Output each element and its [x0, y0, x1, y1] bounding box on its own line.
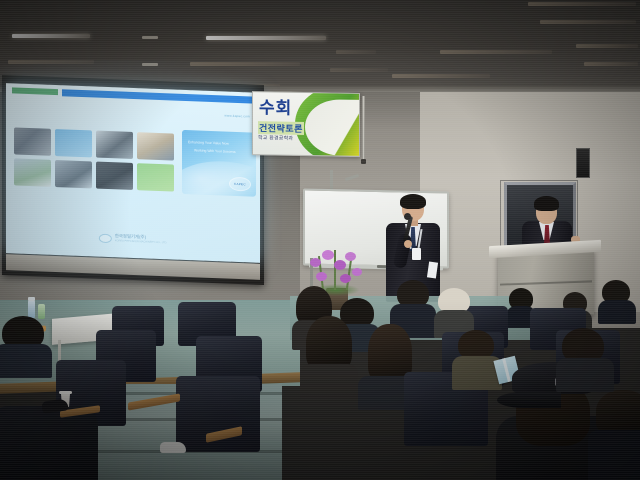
water-bottle-cap: [28, 297, 35, 301]
paper-cup-lip: [59, 391, 72, 394]
orchid-bloom: [310, 258, 321, 267]
slide-tagline-2: Working With Your Success: [194, 148, 252, 155]
orchid-stem-2: [334, 250, 336, 290]
event-banner: 수회 건전략토론 학교 환경공학과: [252, 91, 360, 157]
banner-title: 수회: [259, 99, 292, 118]
presenter-name-badge: [412, 248, 421, 260]
presenter-hair: [400, 194, 426, 209]
orchid-bloom: [322, 250, 334, 260]
slide-brand-badge: KAPEC: [229, 177, 251, 192]
audience-member: [556, 328, 612, 386]
slide-accent-bar-blue: [62, 89, 254, 103]
wall-speaker-icon: [576, 148, 590, 178]
banner-pole-cap: [361, 159, 366, 164]
projection-screen: www.kapec.com Enhancing Your Value N: [2, 79, 264, 285]
presenter-hand: [404, 240, 412, 248]
seat[interactable]: [176, 376, 260, 452]
slide-thumb-green-swatch: [137, 163, 174, 191]
slide-accent-bar-green: [12, 87, 58, 95]
slide-tagline-1: Enhancing Your Value Now: [188, 140, 252, 147]
orchid-bloom: [345, 252, 356, 261]
audience-member: [596, 390, 640, 480]
banner-subtitle: 건전략토론: [258, 121, 304, 135]
slide-thumb-vehicle: [55, 160, 92, 188]
slide-thumb-wheel: [14, 158, 51, 186]
slide-logo-romanized: KOREA PRECISION MACHINERY CO., LTD.: [115, 238, 167, 245]
microphone-head-icon: [404, 213, 411, 220]
audience-member-reading: [452, 330, 500, 386]
sneaker: [160, 442, 186, 453]
slide-url-text: www.kapec.com: [224, 114, 250, 119]
orchid-bloom: [316, 272, 327, 281]
slide-thumb-machinery: [14, 127, 51, 155]
presentation-slide: www.kapec.com Enhancing Your Value N: [6, 83, 260, 263]
banner-small-line: 학교 환경공학과: [258, 134, 293, 142]
slide-thumb-drill: [96, 131, 133, 159]
slide-thumb-blue-swatch: [55, 129, 92, 157]
audience-member: [600, 280, 634, 316]
audience-member: [300, 316, 356, 390]
orchid-bloom: [334, 260, 346, 270]
slide-thumb-keyboard: [96, 162, 133, 190]
slide-thumb-hands-globe: [137, 132, 174, 160]
slide-logo-mark-icon: [99, 233, 112, 242]
audience-member: [0, 316, 54, 370]
auditorium-photo: www.kapec.com Enhancing Your Value N: [0, 0, 640, 480]
slide-thumbnail-grid: [14, 127, 174, 195]
podium-speaker-hair: [534, 196, 559, 211]
orchid-bloom: [352, 268, 362, 276]
slide-tagline-panel: Enhancing Your Value Now Working With Yo…: [182, 130, 256, 197]
orchid-bloom: [340, 274, 351, 283]
banner-support-pole: [362, 96, 365, 162]
slide-company-logo: 한국정밀기계(주) KOREA PRECISION MACHINERY CO.,…: [99, 233, 167, 246]
audience-member: [434, 288, 474, 336]
